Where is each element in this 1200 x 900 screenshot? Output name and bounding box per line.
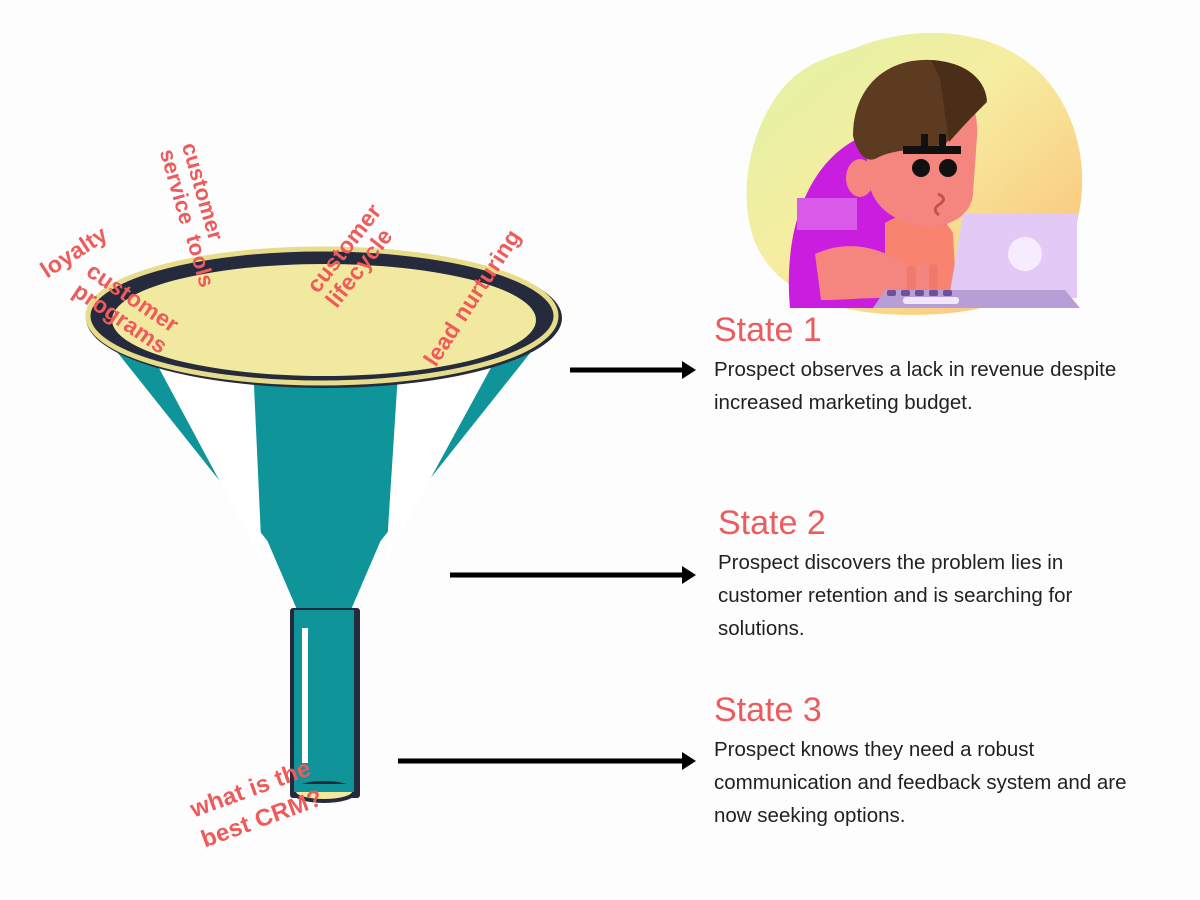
- state-2-body: Prospect discovers the problem lies in c…: [718, 546, 1138, 646]
- person-eyebrow-right-stem: [939, 134, 946, 150]
- state-block-2: State 2 Prospect discovers the problem l…: [718, 506, 1138, 645]
- state-block-1: State 1 Prospect observes a lack in reve…: [714, 313, 1134, 419]
- person-hand: [907, 262, 938, 292]
- state-3-body: Prospect knows they need a robust commun…: [714, 733, 1134, 833]
- laptop-logo: [1008, 237, 1042, 271]
- person-sleeve-patch: [797, 198, 857, 230]
- state-1-body: Prospect observes a lack in revenue desp…: [714, 353, 1134, 419]
- person-eye-right: [939, 159, 957, 177]
- person-eyebrow-bar: [903, 146, 961, 154]
- person-eyebrow-left-stem: [921, 134, 928, 150]
- state-3-title: State 3: [714, 693, 1134, 729]
- state-block-3: State 3 Prospect knows they need a robus…: [714, 693, 1134, 832]
- funnel-stem-highlight: [302, 628, 308, 763]
- person-eye-left: [912, 159, 930, 177]
- diagram-canvas: loyalty customer programs tools customer…: [0, 0, 1200, 900]
- laptop-trackpad: [903, 297, 959, 304]
- arrow-state-3: [398, 749, 700, 773]
- arrow-state-1: [570, 358, 700, 382]
- state-2-title: State 2: [718, 506, 1138, 542]
- state-1-title: State 1: [714, 313, 1134, 349]
- person-at-laptop-illustration: [735, 18, 1105, 318]
- arrow-state-2: [450, 563, 700, 587]
